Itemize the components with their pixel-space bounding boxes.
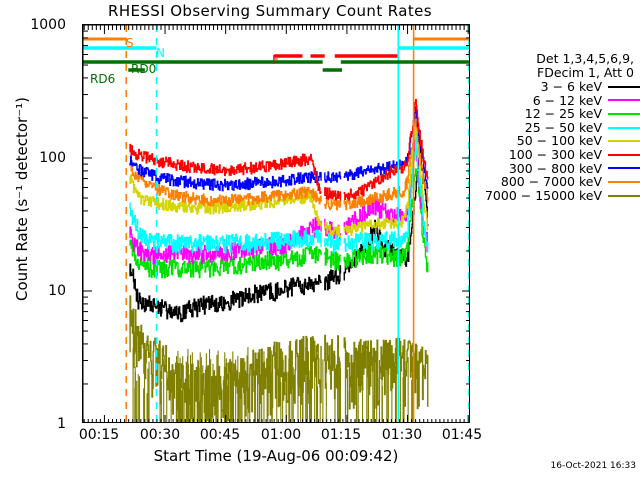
legend-color-swatch	[608, 167, 640, 169]
y-axis-title: Count Rate (s⁻¹ detector⁻¹)	[13, 39, 31, 359]
x-tick-label-0145: 01:45	[427, 427, 497, 443]
series-line-7-1	[324, 198, 340, 210]
legend-color-swatch	[608, 127, 640, 129]
flag-label-rd0: RD0	[131, 62, 156, 76]
legend-entry-label: 3 − 6 keV	[541, 80, 602, 94]
x-tick-label-0115: 01:15	[306, 427, 376, 443]
legend-entries: 3 − 6 keV6 − 12 keV12 − 25 keV25 − 50 ke…	[476, 80, 640, 202]
flag-label-s: S	[126, 36, 134, 50]
x-axis-title: Start Time (19-Aug-06 00:09:42)	[82, 447, 470, 465]
rhessi-plot-window: RHESSI Observing Summary Count Rates 100…	[0, 0, 640, 480]
legend-color-swatch	[608, 181, 640, 183]
legend-entry: 3 − 6 keV	[476, 80, 640, 94]
y-tick-label-1: 1	[20, 416, 66, 432]
series-line-0-0	[129, 264, 321, 321]
legend-color-swatch	[608, 99, 640, 101]
x-tick-label-0045: 00:45	[185, 427, 255, 443]
legend-entry: 100 − 300 keV	[476, 148, 640, 162]
page-title: RHESSI Observing Summary Count Rates	[0, 2, 540, 20]
legend-color-swatch	[608, 140, 640, 142]
legend-entry: 7000 − 15000 keV	[476, 189, 640, 203]
legend-entry: 300 − 800 keV	[476, 162, 640, 176]
legend-entry: 12 − 25 keV	[476, 107, 640, 121]
plot-area	[82, 24, 470, 423]
legend-entry-label: 6 − 12 keV	[533, 94, 602, 108]
legend-color-swatch	[608, 86, 640, 88]
y-tick-label-1000: 1000	[20, 17, 66, 33]
chart-canvas	[83, 25, 470, 423]
flag-label-rd6: RD6	[90, 72, 115, 86]
legend-color-swatch	[608, 154, 640, 156]
series-line-5-1	[324, 188, 340, 201]
render-timestamp: 16-Oct-2021 16:33	[500, 461, 636, 471]
legend-entry-label: 100 − 300 keV	[509, 148, 602, 162]
legend-entry: 50 − 100 keV	[476, 134, 640, 148]
legend-entry-label: 50 − 100 keV	[517, 134, 602, 148]
series-line-2-1	[324, 248, 340, 270]
legend-entry-label: 12 − 25 keV	[525, 107, 602, 121]
legend-header-decim: FDecim 1, Att 0	[476, 66, 640, 80]
flag-label-n: N	[156, 46, 165, 60]
legend-entry-label: 7000 − 15000 keV	[485, 189, 602, 203]
x-tick-label-0015: 00:15	[64, 427, 134, 443]
legend-header-detectors: Det 1,3,4,5,6,9,	[476, 52, 640, 66]
legend-color-swatch	[608, 195, 640, 197]
legend-entry-label: 25 − 50 keV	[525, 121, 602, 135]
legend-color-swatch	[608, 113, 640, 115]
flag-label-f: F	[272, 53, 279, 67]
legend: Det 1,3,4,5,6,9, FDecim 1, Att 0 3 − 6 k…	[476, 52, 640, 202]
legend-entry: 25 − 50 keV	[476, 121, 640, 135]
legend-entry: 6 − 12 keV	[476, 94, 640, 108]
legend-entry: 800 − 7000 keV	[476, 175, 640, 189]
series-line-6-1	[324, 172, 340, 182]
legend-entry-label: 800 − 7000 keV	[501, 175, 602, 189]
legend-entry-label: 300 − 800 keV	[509, 162, 602, 176]
